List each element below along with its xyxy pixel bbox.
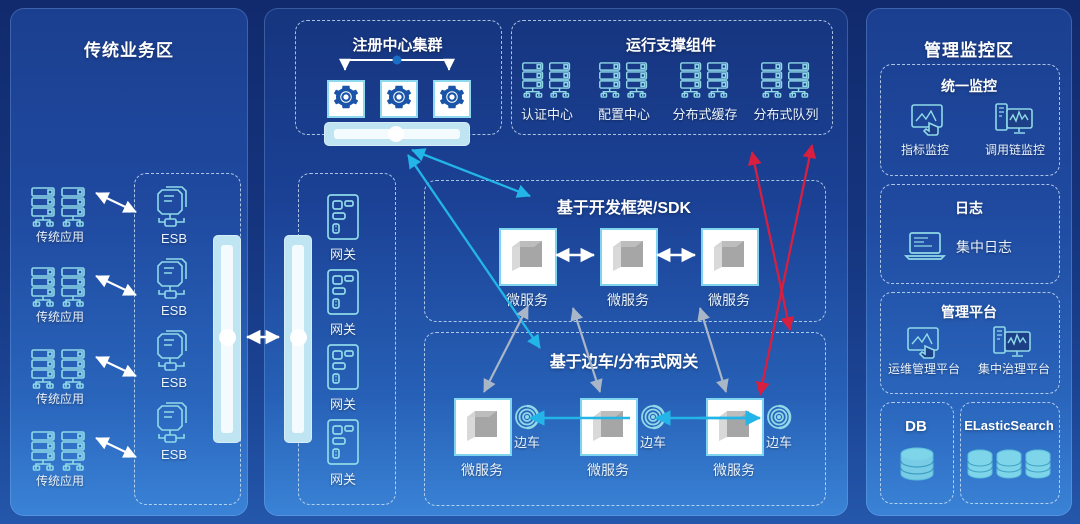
registry-node[interactable] [327, 80, 365, 118]
microservice-label: 微服务 [492, 290, 562, 310]
gateway-icon [324, 268, 362, 316]
sidecar-label: 边车 [756, 432, 802, 451]
cube-icon [710, 237, 750, 277]
log-item-label: 集中日志 [956, 237, 1046, 257]
microservice-label: 微服务 [694, 290, 764, 310]
runtime-components-title: 运行支撑组件 [511, 34, 831, 55]
legacy-zone-title: 传统业务区 [10, 36, 248, 61]
runtime-item-label: 分布式队列 [741, 104, 831, 123]
middle-zone-panel: 网关 网关 网关 [264, 8, 848, 516]
server-rack-icon [30, 186, 88, 228]
microservice-label: 微服务 [699, 460, 769, 480]
server-rack-icon [598, 60, 650, 100]
legacy-app-label: 传统应用 [18, 228, 102, 245]
registry-cluster-title: 注册中心集群 [295, 34, 500, 55]
server-rack-icon [30, 266, 88, 308]
esb-icon [152, 258, 192, 302]
server-rack-icon [30, 430, 88, 472]
monitor-chart-icon [994, 102, 1034, 136]
management-zone-panel: 管理监控区 统一监控 指标监控 调用链监控 日志 [866, 8, 1072, 516]
unified-monitor-title: 统一监控 [880, 76, 1058, 96]
gear-icon [437, 82, 467, 112]
monitor-chart-icon [992, 325, 1032, 359]
runtime-item-label: 配置中心 [584, 104, 664, 123]
legacy-app-label: 传统应用 [18, 390, 102, 407]
sdk-zone-title: 基于开发框架/SDK [424, 194, 824, 218]
microservice-node[interactable] [600, 228, 658, 286]
cube-icon [463, 407, 503, 447]
gear-icon [331, 82, 361, 112]
gateway-icon [324, 193, 362, 241]
registry-node[interactable] [380, 80, 418, 118]
gateway-label: 网关 [316, 319, 370, 338]
gateway-bus-knob [290, 329, 307, 346]
server-rack-icon [521, 60, 573, 100]
platform-item-label: 集中治理平台 [964, 360, 1064, 377]
elasticsearch-title: ELasticSearch [956, 418, 1062, 433]
runtime-item-label: 认证中心 [507, 104, 587, 123]
esb-icon [152, 402, 192, 446]
esb-label: ESB [144, 303, 204, 318]
cube-icon [589, 407, 629, 447]
sidecar-zone-title: 基于边车/分布式网关 [424, 348, 824, 372]
database-icon [898, 446, 936, 488]
esb-label: ESB [144, 375, 204, 390]
gateway-label: 网关 [316, 469, 370, 488]
server-rack-icon [760, 60, 812, 100]
sidecar-spiral-icon [640, 404, 666, 430]
microservice-label: 微服务 [593, 290, 663, 310]
esb-bus-knob [219, 329, 236, 346]
esb-label: ESB [144, 231, 204, 246]
management-zone-title: 管理监控区 [866, 36, 1072, 61]
server-rack-icon [30, 348, 88, 390]
cube-icon [715, 407, 755, 447]
dashboard-touch-icon [910, 103, 948, 137]
platform-item-label: 运维管理平台 [874, 360, 974, 377]
monitor-item-label: 调用链监控 [970, 141, 1060, 158]
runtime-item-label: 分布式缓存 [660, 104, 750, 123]
esb-icon [152, 186, 192, 230]
gateway-label: 网关 [316, 244, 370, 263]
platform-title: 管理平台 [880, 302, 1058, 322]
sidecar-spiral-icon [514, 404, 540, 430]
dashboard-touch-icon [906, 326, 944, 360]
architecture-diagram: 传统业务区 传统应用 [0, 0, 1080, 524]
sidecar-label: 边车 [504, 432, 550, 451]
gateway-icon [324, 418, 362, 466]
microservice-label: 微服务 [573, 460, 643, 480]
gateway-label: 网关 [316, 394, 370, 413]
monitor-item-label: 指标监控 [882, 141, 968, 158]
microservice-node[interactable] [499, 228, 557, 286]
server-rack-icon [679, 60, 731, 100]
cube-icon [508, 237, 548, 277]
legacy-app-label: 传统应用 [18, 472, 102, 489]
sidecar-spiral-icon [766, 404, 792, 430]
cube-icon [609, 237, 649, 277]
registry-bus-knob [388, 126, 404, 142]
log-title: 日志 [880, 198, 1058, 218]
legacy-app-label: 传统应用 [18, 308, 102, 325]
laptop-icon [904, 230, 946, 262]
gear-icon [384, 82, 414, 112]
database-icon [966, 448, 1052, 488]
sidecar-label: 边车 [630, 432, 676, 451]
registry-node[interactable] [433, 80, 471, 118]
esb-icon [152, 330, 192, 374]
microservice-node[interactable] [701, 228, 759, 286]
db-title: DB [880, 418, 952, 435]
gateway-icon [324, 343, 362, 391]
esb-label: ESB [144, 447, 204, 462]
microservice-label: 微服务 [447, 460, 517, 480]
